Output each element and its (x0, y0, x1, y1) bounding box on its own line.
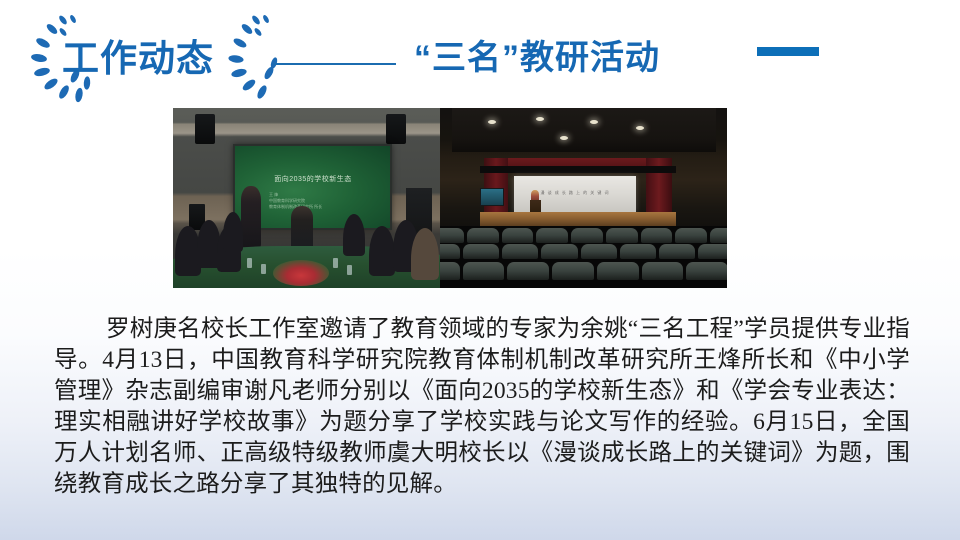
seat (597, 262, 639, 280)
ceiling-speaker-left-icon (195, 114, 215, 144)
seat (536, 228, 568, 243)
seat (541, 244, 577, 259)
seat (642, 262, 684, 280)
seat (467, 228, 499, 243)
water-glass (347, 265, 352, 275)
body-paragraph: 罗树庚名校长工作室邀请了教育领域的专家为余姚“三名工程”学员提供专业指导。4月1… (54, 314, 910, 500)
leaf-wreath-right-icon (228, 12, 306, 104)
stage-floor (480, 212, 676, 226)
seat (581, 244, 617, 259)
body-paragraph-text: 罗树庚名校长工作室邀请了教育领域的专家为余姚“三名工程”学员提供专业指导。4月1… (54, 316, 910, 497)
ceiling-light (560, 136, 568, 140)
presenter-figure (241, 186, 261, 248)
header-divider-line (274, 63, 396, 65)
seat (675, 228, 707, 243)
audience-seating (440, 226, 727, 288)
photo-strip: 面向2035的学校新生态 王 烽 中国教育科学研究院 教育体制机制改革研究所 所… (173, 108, 727, 288)
seat (463, 262, 505, 280)
attendee-figure (343, 214, 365, 256)
seat (710, 228, 727, 243)
seat (502, 228, 534, 243)
meeting-screen-subtitle: 王 烽 中国教育科学研究院 教育体制机制改革研究所 所长 (269, 192, 365, 210)
seated-chair-figure (291, 206, 313, 250)
photo-auditorium: 漫 谈 成 长 路 上 的 关 键 词 (440, 108, 727, 288)
stage-lighting-truss (480, 166, 676, 173)
seat (620, 244, 656, 259)
seat (440, 228, 464, 243)
ceiling-light (590, 120, 598, 124)
seat (606, 228, 638, 243)
seat (686, 262, 727, 280)
ceiling-speaker-right-icon (386, 114, 406, 144)
seat (463, 244, 499, 259)
seat (440, 244, 460, 259)
seat (502, 244, 538, 259)
stage-side-monitor (480, 188, 504, 206)
photo-meeting-room: 面向2035的学校新生态 王 烽 中国教育科学研究院 教育体制机制改革研究所 所… (173, 108, 440, 288)
water-glass (333, 258, 338, 268)
header-title: 工作动态 (62, 28, 214, 82)
ceiling-light (636, 126, 644, 130)
ceiling-light (488, 120, 496, 124)
seat (552, 262, 594, 280)
water-glass (247, 258, 252, 268)
water-glass (261, 264, 266, 274)
table-flower-arrangement (273, 260, 329, 286)
header-subtitle: “三名”教研活动 (414, 30, 660, 79)
ceiling-light (536, 117, 544, 121)
seat (507, 262, 549, 280)
seat (440, 262, 460, 280)
presentation-slide: 工作动态 “三名”教研活动 (0, 0, 960, 540)
seat (641, 228, 673, 243)
header-accent-bar (757, 47, 819, 56)
seat (571, 228, 603, 243)
slide-header: 工作动态 “三名”教研活动 (0, 0, 960, 108)
seat (698, 244, 727, 259)
seat (659, 244, 695, 259)
auditorium-ceiling (452, 108, 716, 152)
meeting-screen-subtitle-line-3: 教育体制机制改革研究所 所长 (269, 204, 365, 210)
meeting-screen-title: 面向2035的学校新生态 (251, 174, 375, 184)
attendee-figure (223, 212, 243, 252)
